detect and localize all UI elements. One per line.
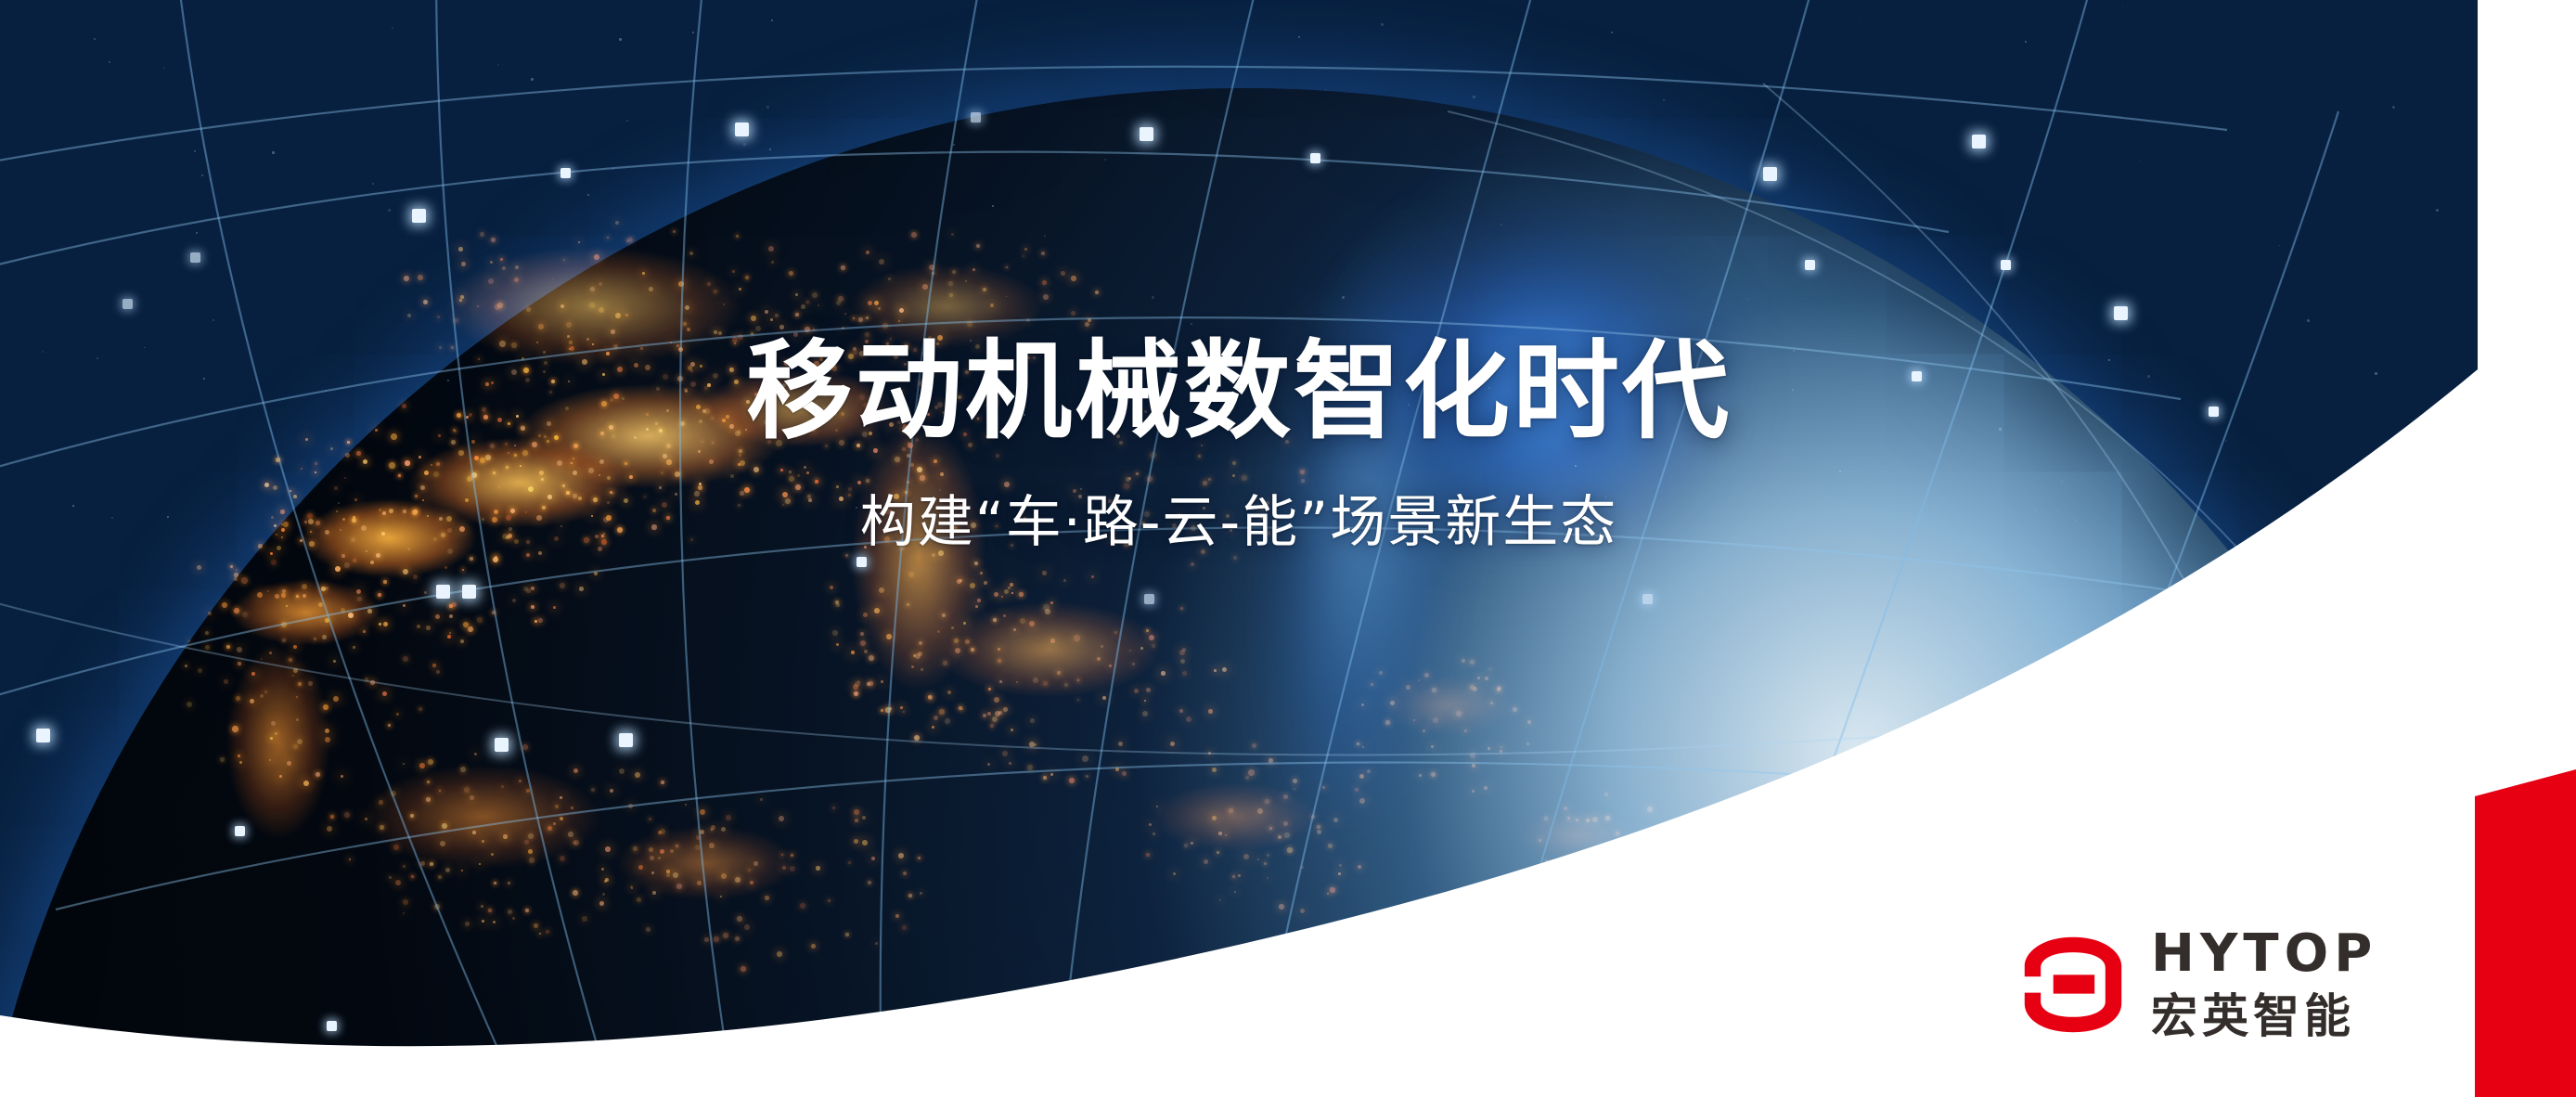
network-node (190, 252, 200, 263)
network-node (1310, 153, 1320, 163)
network-node (1344, 968, 1358, 982)
network-node (495, 738, 509, 752)
network-node (971, 112, 981, 123)
network-node (412, 209, 426, 223)
network-node (2209, 407, 2219, 417)
network-node (1561, 961, 1575, 974)
network-node (1642, 594, 1653, 604)
network-node (327, 1021, 337, 1031)
network-node (2001, 260, 2011, 270)
network-node (2334, 520, 2348, 534)
network-node (88, 1044, 98, 1054)
network-node (36, 729, 50, 742)
brand-name-en: HYTOP (2151, 928, 2377, 980)
network-node (560, 168, 571, 178)
network-node (1972, 135, 1986, 148)
network-node (1140, 127, 1153, 141)
network-node (1912, 371, 1922, 381)
brand-name-cn: 宏英智能 (2151, 993, 2377, 1039)
network-node (436, 585, 450, 599)
network-node (235, 826, 245, 836)
network-node (1805, 260, 1815, 270)
logo-text-block: HYTOP 宏英智能 (2151, 928, 2377, 1039)
network-node (462, 585, 476, 599)
red-accent-block (2468, 742, 2576, 1097)
presentation-slide: 移动机械数智化时代 构建“车·路-云-能”场景新生态 HYTOP 宏英智能 (0, 0, 2576, 1097)
network-node (1144, 594, 1154, 604)
network-node (2114, 306, 2128, 320)
network-node (1763, 167, 1777, 181)
network-node (857, 557, 867, 567)
network-node (122, 299, 133, 309)
network-node (619, 733, 633, 747)
network-node (735, 123, 749, 136)
network-node (2376, 515, 2386, 525)
brand-logo: HYTOP 宏英智能 (2019, 928, 2377, 1039)
hytop-logo-mark-icon (2019, 930, 2127, 1038)
